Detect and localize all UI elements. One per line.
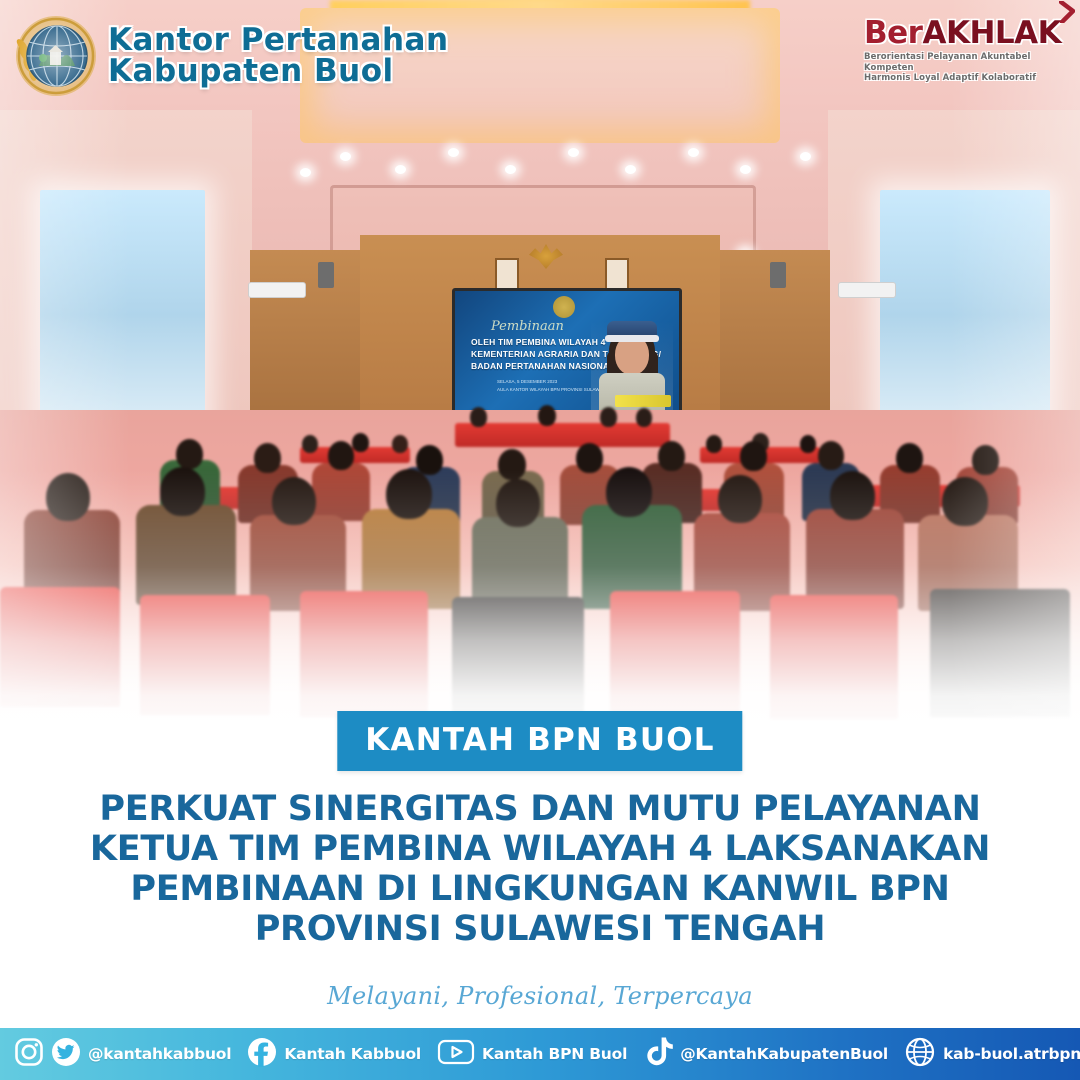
downlight: [340, 152, 351, 161]
social-label-facebook: Kantah Kabbuol: [284, 1045, 421, 1063]
social-item-facebook[interactable]: Kantah Kabbuol: [247, 1037, 421, 1072]
left-window: [40, 190, 205, 440]
headline-line-4: PROVINSI SULAWESI TENGAH: [0, 910, 1080, 950]
headline-line-3: PEMBINAAN DI LINGKUNGAN KANWIL BPN: [0, 870, 1080, 910]
youtube-icon[interactable]: [437, 1038, 475, 1071]
social-label-website: kab-buol.atrbpn.go.id: [943, 1045, 1080, 1063]
downlight: [625, 165, 636, 174]
downlight: [448, 148, 459, 157]
downlight: [688, 148, 699, 157]
official-portrait-left: [495, 258, 519, 292]
brand-title-line-1: Kantor Pertanahan: [108, 25, 449, 56]
headline-line-2: KETUA TIM PEMBINA WILAYAH 4 LAKSANAKAN: [0, 830, 1080, 870]
berakhlak-subtitle: Berorientasi Pelayanan Akuntabel Kompete…: [864, 52, 1064, 84]
poster-canvas: Pembinaan OLEH TIM PEMBINA WILAYAH 4 KEM…: [0, 0, 1080, 1080]
speaker-right: [770, 262, 786, 288]
twitter-icon[interactable]: [51, 1037, 81, 1072]
back-wall-left-panel: [250, 250, 362, 415]
social-label-tiktok: @KantahKabupatenBuol: [680, 1045, 888, 1063]
brand-lockup: Kantor Pertanahan Kabupaten Buol: [14, 14, 449, 98]
downlight: [740, 165, 751, 174]
instagram-icon[interactable]: [14, 1037, 44, 1072]
bpn-globe-logo-icon: [14, 14, 98, 98]
berakhlak-prefix: Ber: [864, 15, 922, 51]
audience-group: [0, 405, 1080, 740]
page-title: PERKUAT SINERGITAS DAN MUTU PELAYANAN KE…: [0, 790, 1080, 950]
social-label-instagram-twitter: @kantahkabbuol: [88, 1045, 231, 1063]
downlight: [568, 148, 579, 157]
berakhlak-main: AKHLAK: [922, 15, 1061, 51]
downlight: [800, 152, 811, 161]
social-item-youtube[interactable]: Kantah BPN Buol: [437, 1038, 627, 1071]
berakhlak-subtitle-line-2: Harmonis Loyal Adaptif Kolaboratif: [864, 73, 1064, 84]
social-item-instagram-twitter[interactable]: @kantahkabbuol: [14, 1037, 231, 1072]
social-footer-bar: @kantahkabbuol Kantah Kabbuol Kantah BPN…: [0, 1028, 1080, 1080]
chevron-right-icon: [1059, 1, 1075, 23]
downlight: [300, 168, 311, 177]
downlight: [395, 165, 406, 174]
social-label-youtube: Kantah BPN Buol: [482, 1045, 627, 1063]
berakhlak-logo: BerAKHLAK Berorientasi Pelayanan Akuntab…: [864, 18, 1064, 84]
social-item-website[interactable]: kab-buol.atrbpn.go.id: [904, 1036, 1080, 1073]
headline-line-1: PERKUAT SINERGITAS DAN MUTU PELAYANAN: [0, 790, 1080, 830]
right-window: [880, 190, 1050, 440]
screen-line-1: OLEH TIM PEMBINA WILAYAH 4: [471, 337, 606, 347]
screen-sub-1: SELASA, 5 DESEMBER 2023: [497, 379, 557, 384]
social-item-tiktok[interactable]: @KantahKabupatenBuol: [643, 1036, 888, 1073]
facebook-icon[interactable]: [247, 1037, 277, 1072]
berakhlak-subtitle-line-1: Berorientasi Pelayanan Akuntabel Kompete…: [864, 52, 1064, 73]
downlight: [505, 165, 516, 174]
event-photo: Pembinaan OLEH TIM PEMBINA WILAYAH 4 KEM…: [0, 0, 1080, 740]
ac-unit-left: [248, 282, 306, 298]
speaker-left: [318, 262, 334, 288]
screen-logo-icon: [553, 296, 575, 318]
tagline: Melayani, Profesional, Terpercaya: [0, 982, 1080, 1010]
ac-unit-right: [838, 282, 896, 298]
screen-script-word: Pembinaan: [491, 319, 564, 334]
tiktok-icon[interactable]: [643, 1036, 673, 1073]
status-badge: KANTAH BPN BUOL: [337, 711, 742, 771]
brand-title: Kantor Pertanahan Kabupaten Buol: [108, 25, 449, 87]
brand-title-line-2: Kabupaten Buol: [108, 56, 449, 87]
presentation-screen: Pembinaan OLEH TIM PEMBINA WILAYAH 4 KEM…: [452, 288, 682, 416]
globe-icon[interactable]: [904, 1036, 936, 1073]
official-portrait-right: [605, 258, 629, 292]
